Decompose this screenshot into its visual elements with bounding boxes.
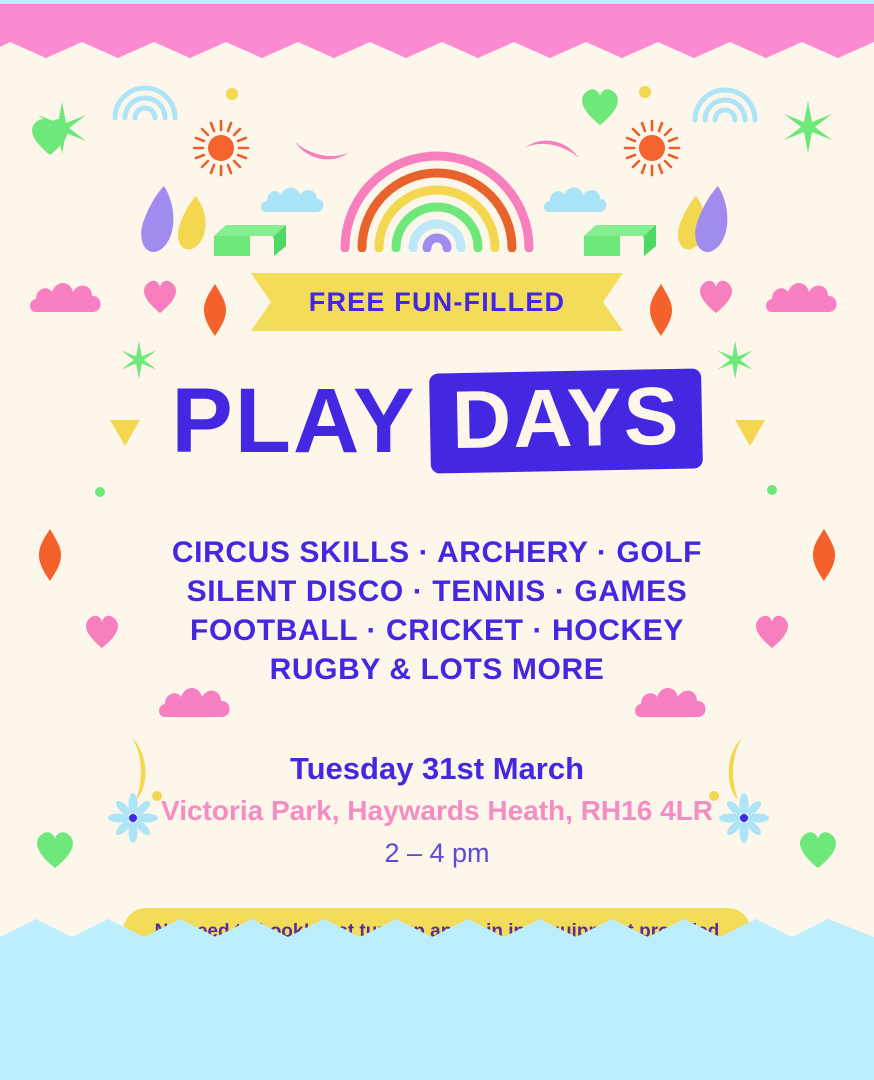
poster-title: PLAY DAYS [0,368,874,474]
activity-line: CIRCUS SKILLS · ARCHERY · GOLF [0,533,874,572]
event-details: Tuesday 31st March Victoria Park, Haywar… [0,748,874,874]
title-play-word: PLAY [171,375,416,467]
event-venue: Victoria Park, Haywards Heath, RH16 4LR [0,790,874,832]
event-time: 2 – 4 pm [0,832,874,874]
title-days-word: DAYS [452,376,682,462]
activity-line: RUGBY & LOTS MORE [0,650,874,689]
rainbow-icon [337,148,537,252]
activity-line: FOOTBALL · CRICKET · HOCKEY [0,611,874,650]
title-days-box: DAYS [429,368,703,473]
activity-line: SILENT DISCO · TENNIS · GAMES [0,572,874,611]
top-pink-band [0,0,874,58]
event-date: Tuesday 31st March [0,748,874,790]
top-blue-strip [0,0,874,4]
play-days-poster: FREE FUN-FILLED PLAY DAYS CIRCUS SKILLS … [0,0,874,1080]
free-fun-filled-ribbon: FREE FUN-FILLED [251,273,623,331]
activities-list: CIRCUS SKILLS · ARCHERY · GOLF SILENT DI… [0,533,874,689]
ribbon-label: FREE FUN-FILLED [251,273,623,331]
poster-footer [0,978,874,1048]
